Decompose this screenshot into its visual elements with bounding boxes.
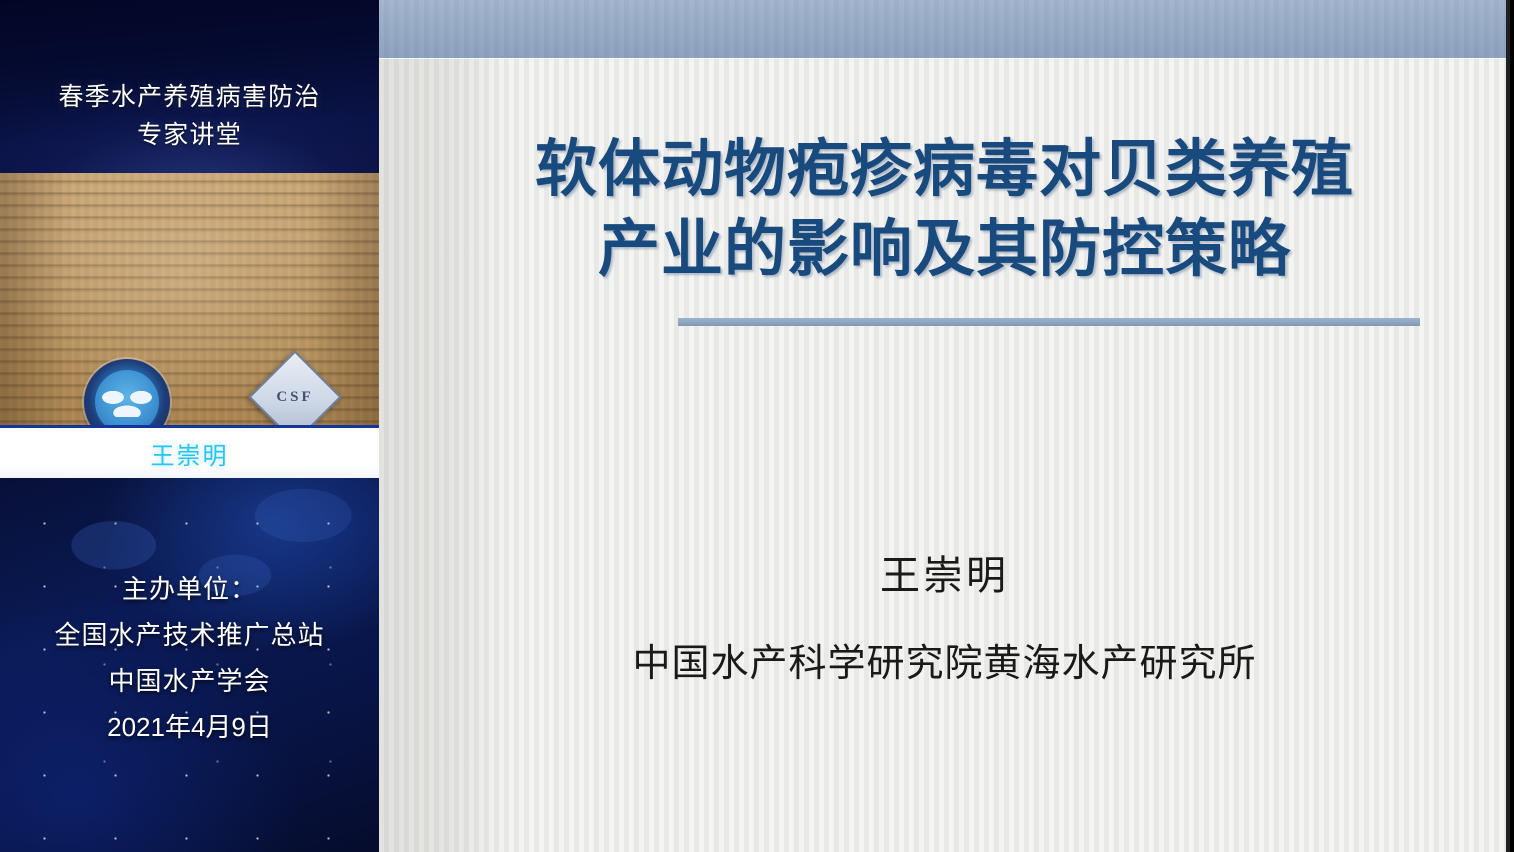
- slide-left-shading: [379, 0, 1510, 852]
- event-title-text: 春季水产养殖病害防治 专家讲堂: [0, 78, 379, 154]
- presentation-slide: 软体动物疱疹病毒对贝类养殖 产业的影响及其防控策略 王崇明 中国水产科学研究院黄…: [379, 0, 1510, 852]
- speaker-video-feed[interactable]: CSF 全国水产技术推广总站 中国水产学会: [0, 173, 379, 428]
- csf-logo-label: CSF: [264, 366, 326, 428]
- slide-header-band: [379, 0, 1510, 58]
- slide-title-line-1: 软体动物疱疹病毒对贝类养殖: [379, 130, 1510, 210]
- event-title-banner: 春季水产养殖病害防治 专家讲堂: [0, 0, 379, 173]
- slide-right-edge: [1506, 0, 1510, 852]
- organizer-name-2: 中国水产学会: [0, 658, 379, 704]
- title-underline-rule: [678, 318, 1420, 326]
- slide-author-block: 王崇明 中国水产科学研究院黄海水产研究所: [379, 548, 1510, 690]
- organizer-label: 主办单位：: [0, 566, 379, 612]
- organizer-name-1: 全国水产技术推广总站: [0, 612, 379, 658]
- screenshot-root: 春季水产养殖病害防治 专家讲堂 CSF 全国水产技术推广总站 中国水产学会: [0, 0, 1514, 852]
- slide-author-affiliation: 中国水产科学研究院黄海水产研究所: [379, 638, 1510, 690]
- organizer-text-block: 主办单位： 全国水产技术推广总站 中国水产学会 2021年4月9日: [0, 566, 379, 750]
- event-title-line-1: 春季水产养殖病害防治: [0, 78, 379, 116]
- event-title-line-2: 专家讲堂: [0, 116, 379, 154]
- organizer-panel: 主办单位： 全国水产技术推广总站 中国水产学会 2021年4月9日: [0, 478, 379, 852]
- slide-author-name: 王崇明: [379, 548, 1510, 604]
- event-date: 2021年4月9日: [0, 704, 379, 750]
- slide-title: 软体动物疱疹病毒对贝类养殖 产业的影响及其防控策略: [379, 130, 1510, 290]
- video-bottom-edge: [0, 425, 379, 428]
- logo-wave-mark: [102, 389, 152, 417]
- speaker-name-label: 王崇明: [151, 436, 229, 471]
- speaker-name-strip: 王崇明: [0, 428, 379, 478]
- slide-title-line-2: 产业的影响及其防控策略: [379, 210, 1510, 290]
- webinar-sidebar: 春季水产养殖病害防治 专家讲堂 CSF 全国水产技术推广总站 中国水产学会: [0, 0, 379, 852]
